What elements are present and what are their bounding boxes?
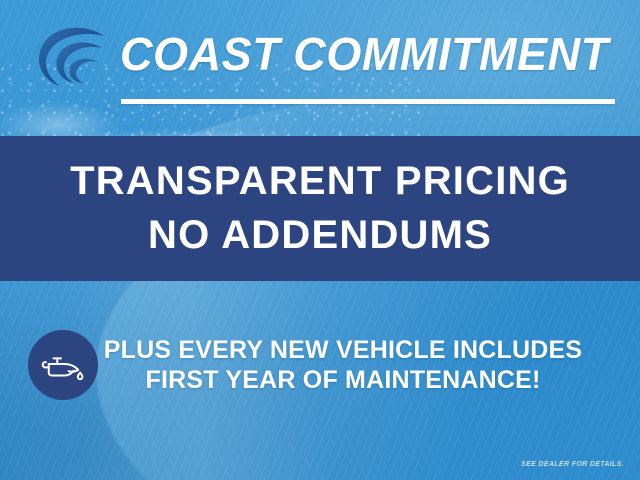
header-divider [121, 99, 615, 104]
oil-can-drip-icon [28, 330, 98, 400]
offer-row: PLUS EVERY NEW VEHICLE INCLUDES FIRST YE… [0, 310, 640, 420]
coast-commitment-promo-banner: COAST COMMITMENT TRANSPARENT PRICING NO … [0, 0, 640, 480]
offer-line-1: PLUS EVERY NEW VEHICLE INCLUDES [98, 335, 588, 366]
page-title: COAST COMMITMENT [120, 23, 610, 85]
disclaimer-text: SEE DEALER FOR DETAILS. [521, 461, 624, 468]
headline-line-1: TRANSPARENT PRICING [70, 160, 570, 203]
banner-header: COAST COMMITMENT [0, 0, 640, 136]
offer-copy: PLUS EVERY NEW VEHICLE INCLUDES FIRST YE… [98, 335, 640, 396]
headline-band: TRANSPARENT PRICING NO ADDENDUMS [0, 136, 640, 281]
headline-line-2: NO ADDENDUMS [148, 214, 492, 257]
coast-wave-swirl-icon [26, 22, 122, 104]
offer-line-2: FIRST YEAR OF MAINTENANCE! [98, 365, 588, 396]
